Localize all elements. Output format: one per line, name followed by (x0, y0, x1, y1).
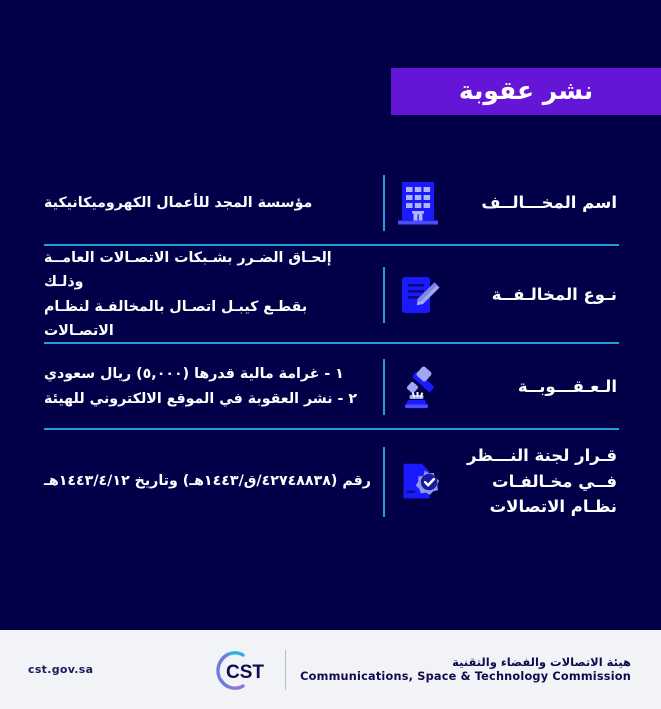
value-line: ١ - غرامة مالية قدرها (٥,٠٠٠) ريال سعودي (44, 362, 373, 386)
row-vertical-divider (383, 359, 385, 415)
value-line: رقم (٤٢٧٤٨٨٣٨/ق/١٤٤٣هـ) وتاريخ ١٤٤٣/٤/١٢… (44, 469, 373, 493)
svg-text:CST: CST (226, 662, 264, 683)
details-table: اسم المخـــالــف مؤسسة المجد للأعمال الك… (0, 160, 661, 534)
cst-logo-icon: CST (215, 647, 277, 693)
row-label-committee-decision: قـرار لجنة النـــظر فــي مخـالفـات نظـام… (393, 443, 621, 520)
row-vertical-divider (383, 267, 385, 323)
value-line: إلحـاق الضـرر بشـبكات الاتصـالات العامــ… (44, 246, 373, 295)
row-label-penalty: الـعـقـــوبــة (393, 362, 621, 412)
brand-divider (285, 650, 286, 690)
row-label-text: اسم المخـــالــف (457, 190, 617, 216)
sanction-publication-card: نشر عقوبة (0, 0, 661, 709)
label-line: قـرار لجنة النـــظر (467, 446, 617, 465)
row-value-committee-decision: رقم (٤٢٧٤٨٨٣٨/ق/١٤٤٣هـ) وتاريخ ١٤٤٣/٤/١٢… (42, 469, 373, 493)
row-label-text: نـوع المخالـفــة (457, 282, 617, 308)
row-vertical-divider (383, 447, 385, 517)
table-row: نـوع المخالـفــة إلحـاق الضـرر بشـبكات ا… (42, 246, 621, 344)
brand-text: هيئة الاتصالات والفضاء والتقنية Communic… (300, 655, 631, 685)
footer: CST هيئة الاتصالات والفضاء والتقنية Comm… (0, 630, 661, 709)
row-label-violator-name: اسم المخـــالــف (393, 178, 621, 228)
row-label-text: الـعـقـــوبــة (457, 374, 617, 400)
website-url[interactable]: cst.gov.sa (28, 663, 93, 676)
building-icon (393, 178, 443, 228)
table-row: اسم المخـــالــف مؤسسة المجد للأعمال الك… (42, 160, 621, 246)
verified-document-icon (393, 457, 443, 507)
org-name-en-line2: Technology Commission (475, 670, 631, 683)
row-vertical-divider (383, 175, 385, 231)
value-line: مؤسسة المجد للأعمال الكهروميكانيكية (44, 191, 373, 215)
footer-brand: CST هيئة الاتصالات والفضاء والتقنية Comm… (215, 647, 631, 693)
table-row: الـعـقـــوبــة ١ - غرامة مالية قدرها (٥,… (42, 344, 621, 430)
row-label-violation-type: نـوع المخالـفــة (393, 270, 621, 320)
table-row: قـرار لجنة النـــظر فــي مخـالفـات نظـام… (42, 430, 621, 534)
row-label-text: قـرار لجنة النـــظر فــي مخـالفـات نظـام… (457, 443, 617, 520)
document-pen-icon (393, 270, 443, 320)
org-name-en-line1: Communications, Space & (300, 670, 470, 683)
row-value-penalty: ١ - غرامة مالية قدرها (٥,٠٠٠) ريال سعودي… (42, 362, 373, 411)
org-name-ar: هيئة الاتصالات والفضاء والتقنية (300, 655, 631, 669)
row-value-violator-name: مؤسسة المجد للأعمال الكهروميكانيكية (42, 191, 373, 215)
row-value-violation-type: إلحـاق الضـرر بشـبكات الاتصـالات العامــ… (42, 246, 373, 344)
gavel-icon (393, 362, 443, 412)
label-line: فــي مخـالفـات (492, 472, 617, 491)
value-line: بقطـع كيبـل اتصـال بالمخالفـة لنظـام الا… (44, 295, 373, 344)
label-line: نظـام الاتصالات (490, 497, 617, 516)
org-name-en: Communications, Space & Technology Commi… (300, 670, 631, 685)
page-title: نشر عقوبة (459, 76, 593, 105)
header-banner: نشر عقوبة (391, 68, 661, 115)
value-line: ٢ - نشر العقوبة في الموقع الالكتروني لله… (44, 387, 373, 411)
